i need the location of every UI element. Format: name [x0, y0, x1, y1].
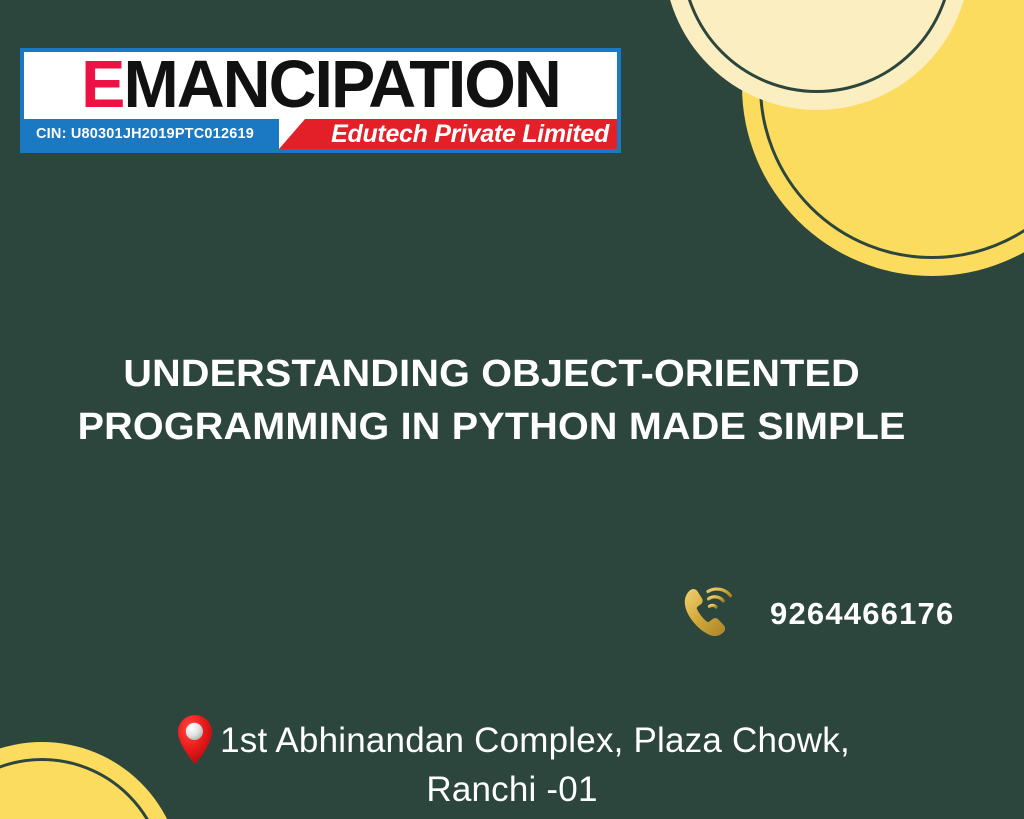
contact-phone-row: 9264466176: [676, 583, 954, 645]
decor-ring-yellow-top-right: [759, 0, 1024, 259]
contact-address-line-2: Ranchi -01: [0, 766, 1024, 814]
logo-wordmark-lead-letter: E: [81, 48, 123, 122]
logo-cin-number: CIN: U80301JH2019PTC012619: [24, 119, 279, 149]
map-pin-icon: [174, 714, 216, 766]
decor-circle-yellow-top-right: [742, 0, 1024, 276]
contact-address-line-1: 1st Abhinandan Complex, Plaza Chowk,: [220, 721, 850, 760]
logo-wordmark: EMANCIPATION: [27, 48, 614, 125]
company-logo: EMANCIPATION CIN: U80301JH2019PTC012619 …: [20, 48, 621, 153]
contact-address-line-1-wrapper: 1st Abhinandan Complex, Plaza Chowk,: [0, 714, 1024, 766]
logo-bottom-strip: CIN: U80301JH2019PTC012619 Edutech Priva…: [24, 119, 617, 149]
logo-wordmark-rest: MANCIPATION: [123, 48, 559, 122]
contact-address-block: 1st Abhinandan Complex, Plaza Chowk, Ran…: [0, 714, 1024, 814]
logo-tagline: Edutech Private Limited: [279, 119, 617, 149]
page-title-line-1: UNDERSTANDING OBJECT-ORIENTED: [34, 348, 949, 401]
phone-ringing-icon: [676, 583, 738, 645]
page-title-line-2: PROGRAMMING IN PYTHON MADE SIMPLE: [34, 401, 949, 454]
decor-circle-cream-top-right: [664, 0, 970, 110]
decor-ring-cream-top-right: [681, 0, 953, 93]
page-title: UNDERSTANDING OBJECT-ORIENTED PROGRAMMIN…: [34, 348, 949, 454]
poster-canvas: EMANCIPATION CIN: U80301JH2019PTC012619 …: [0, 0, 1024, 819]
contact-phone-number: 9264466176: [770, 596, 954, 632]
